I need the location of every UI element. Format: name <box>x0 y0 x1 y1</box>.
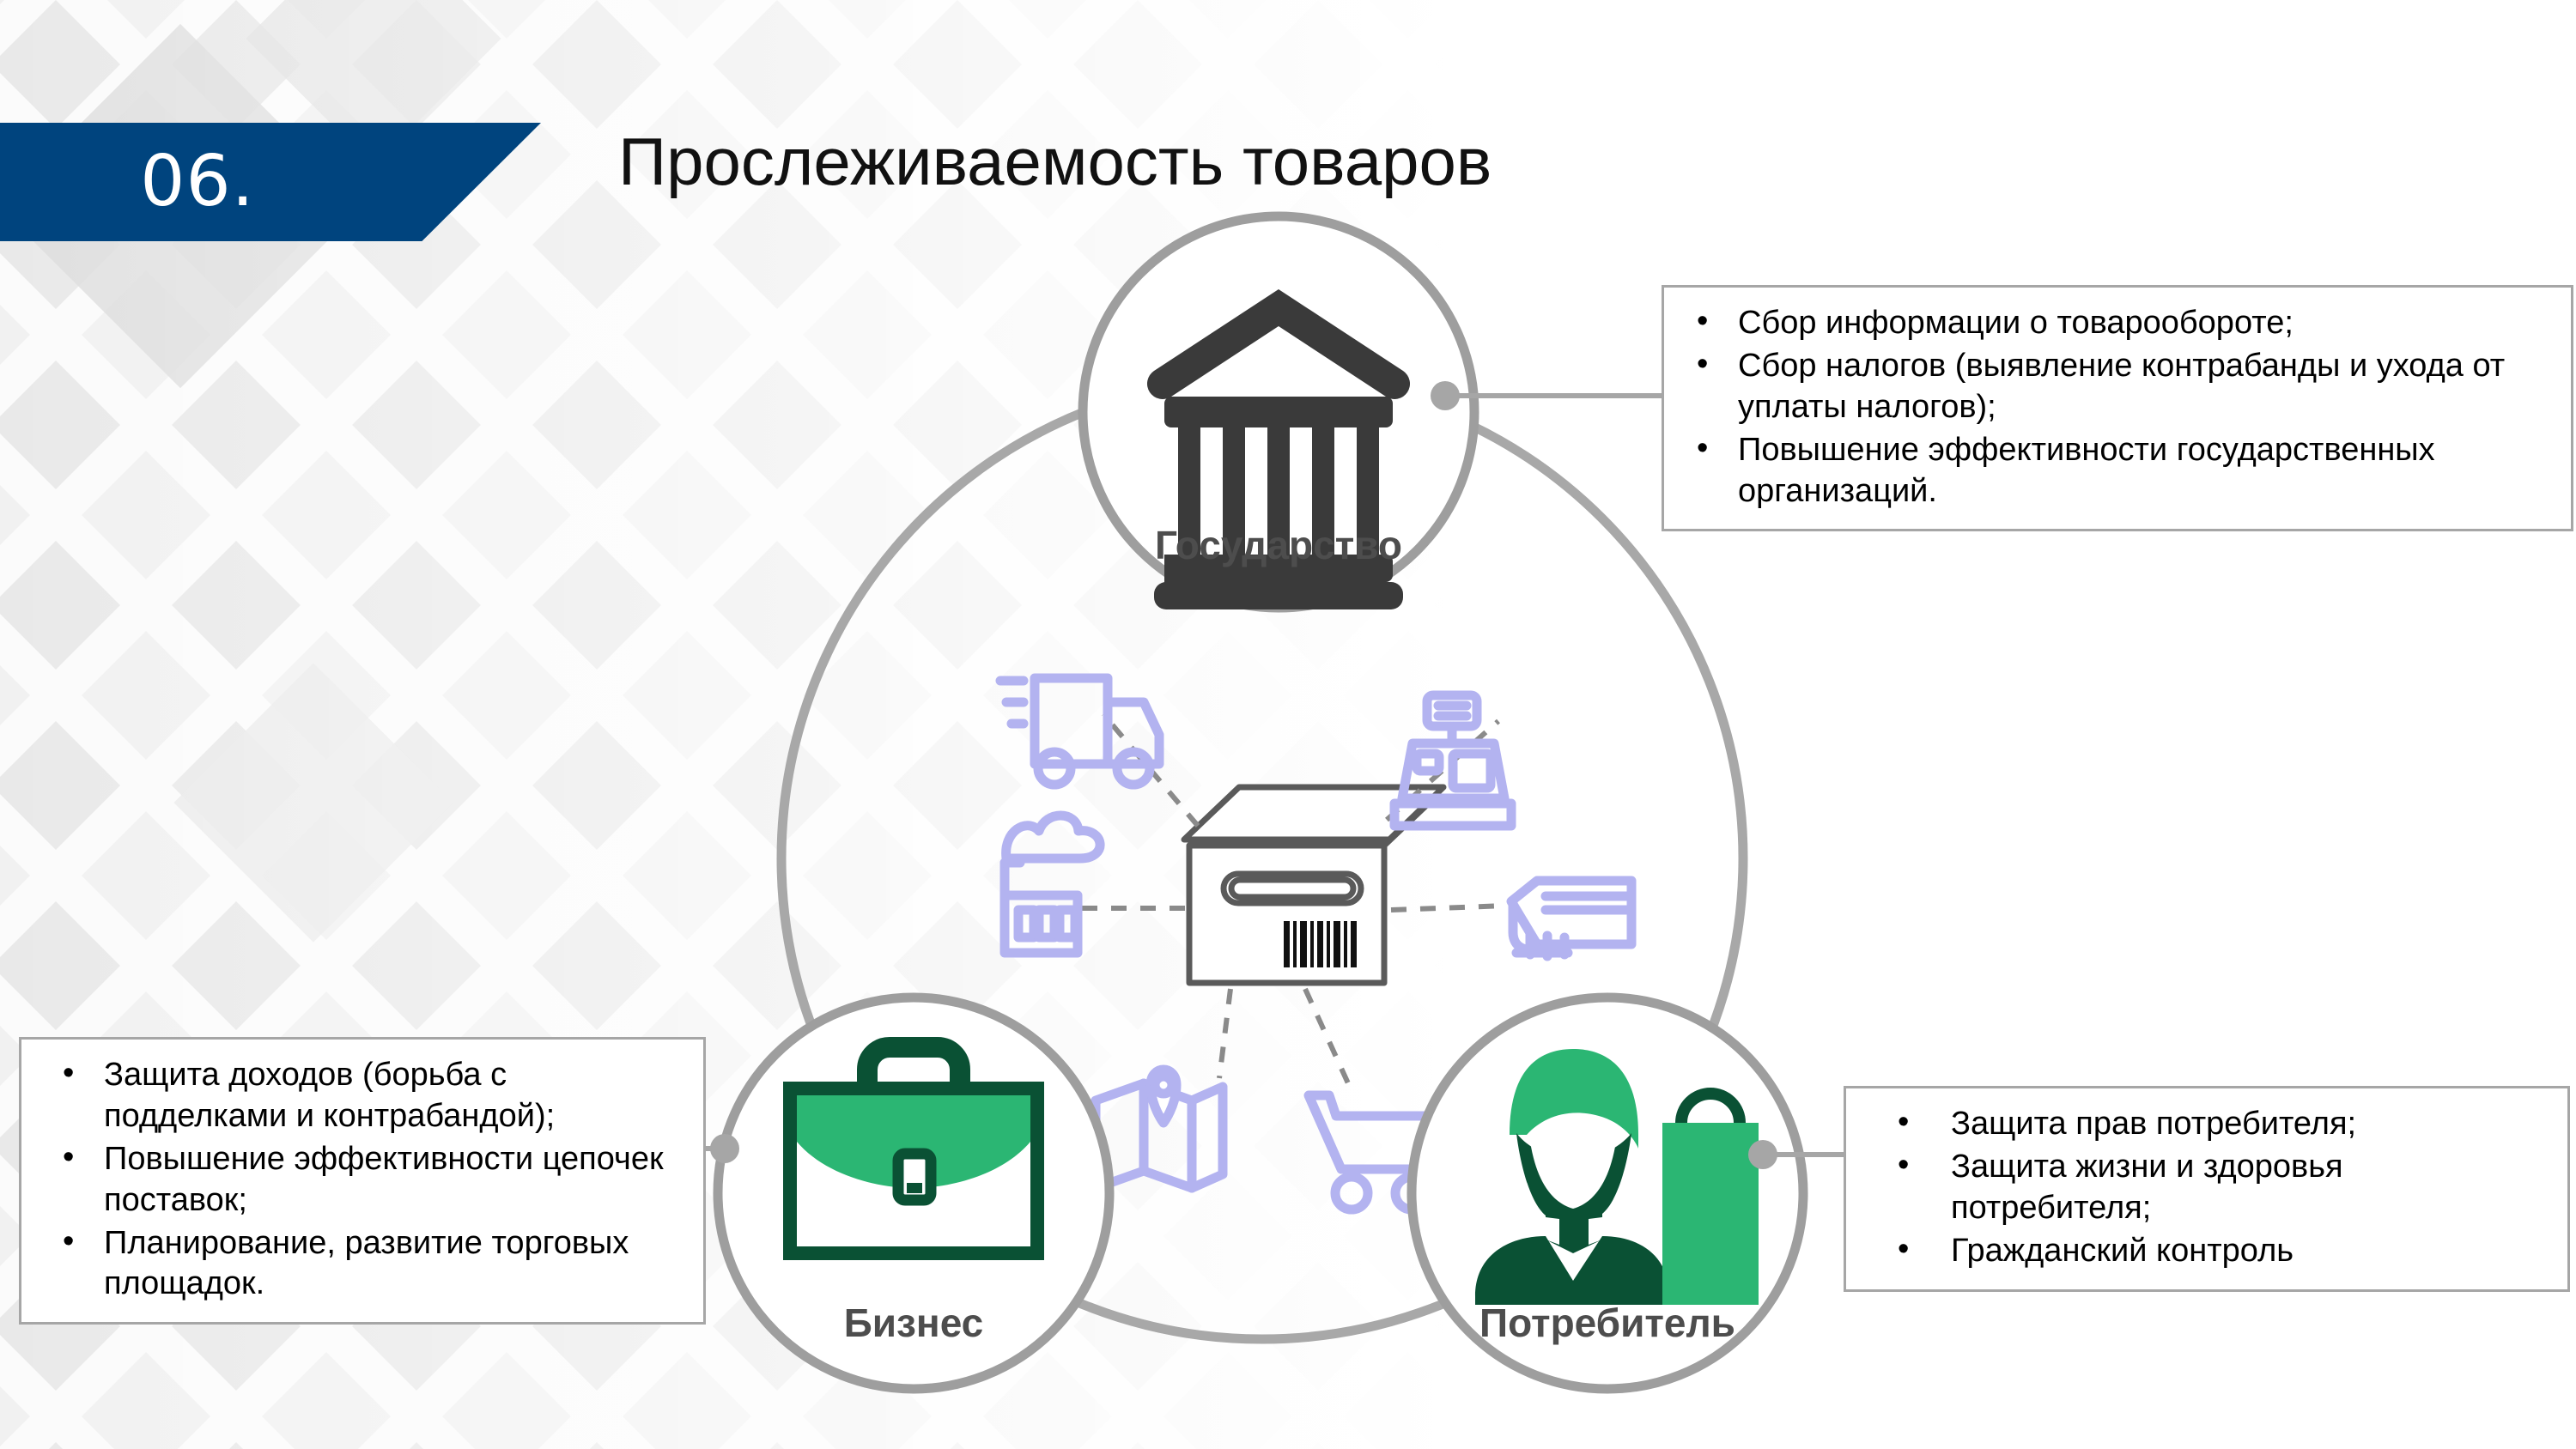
callout-item: Гражданский контроль <box>1855 1231 2545 1272</box>
callout-box-cons: Защита прав потребителя; Защита жизни и … <box>1844 1086 2570 1292</box>
callout-box-biz: Защита доходов (борьба с подделками и ко… <box>19 1037 706 1325</box>
callout-item: Планирование, развитие торговых площадок… <box>30 1223 681 1306</box>
map-pin-icon <box>1096 1070 1223 1188</box>
callout-item: Сбор налогов (выявление контрабанды и ух… <box>1673 346 2549 428</box>
callout-item: Повышение эффективности цепочек поставок… <box>30 1139 681 1222</box>
node-label-cons: Потребитель <box>1479 1300 1735 1346</box>
slide-canvas: 06. Прослеживаемость товаров <box>0 0 2576 1449</box>
callout-item: Защита прав потребителя; <box>1855 1104 2545 1145</box>
callout-list-biz: Защита доходов (борьба с подделками и ко… <box>30 1055 681 1305</box>
callout-item: Повышение эффективности государственных … <box>1673 430 2549 512</box>
cash-register-icon <box>1394 695 1511 826</box>
node-label-gov: Государство <box>1155 522 1402 568</box>
node-label-biz: Бизнес <box>844 1300 984 1346</box>
delivery-truck-icon <box>1000 678 1159 785</box>
hand-credit-card-icon <box>1511 881 1631 956</box>
barcode-glyph <box>1284 921 1357 967</box>
callout-item: Защита жизни и здоровья потребителя; <box>1855 1147 2545 1229</box>
callout-list-cons: Защита прав потребителя; Защита жизни и … <box>1855 1104 2545 1272</box>
callout-item: Защита доходов (борьба с подделками и ко… <box>30 1055 681 1137</box>
callout-box-gov: Сбор информации о товарообороте; Сбор на… <box>1662 285 2573 531</box>
factory-icon <box>1005 815 1100 953</box>
callout-item: Сбор информации о товарообороте; <box>1673 303 2549 344</box>
callout-list-gov: Сбор информации о товарообороте; Сбор на… <box>1673 303 2549 512</box>
